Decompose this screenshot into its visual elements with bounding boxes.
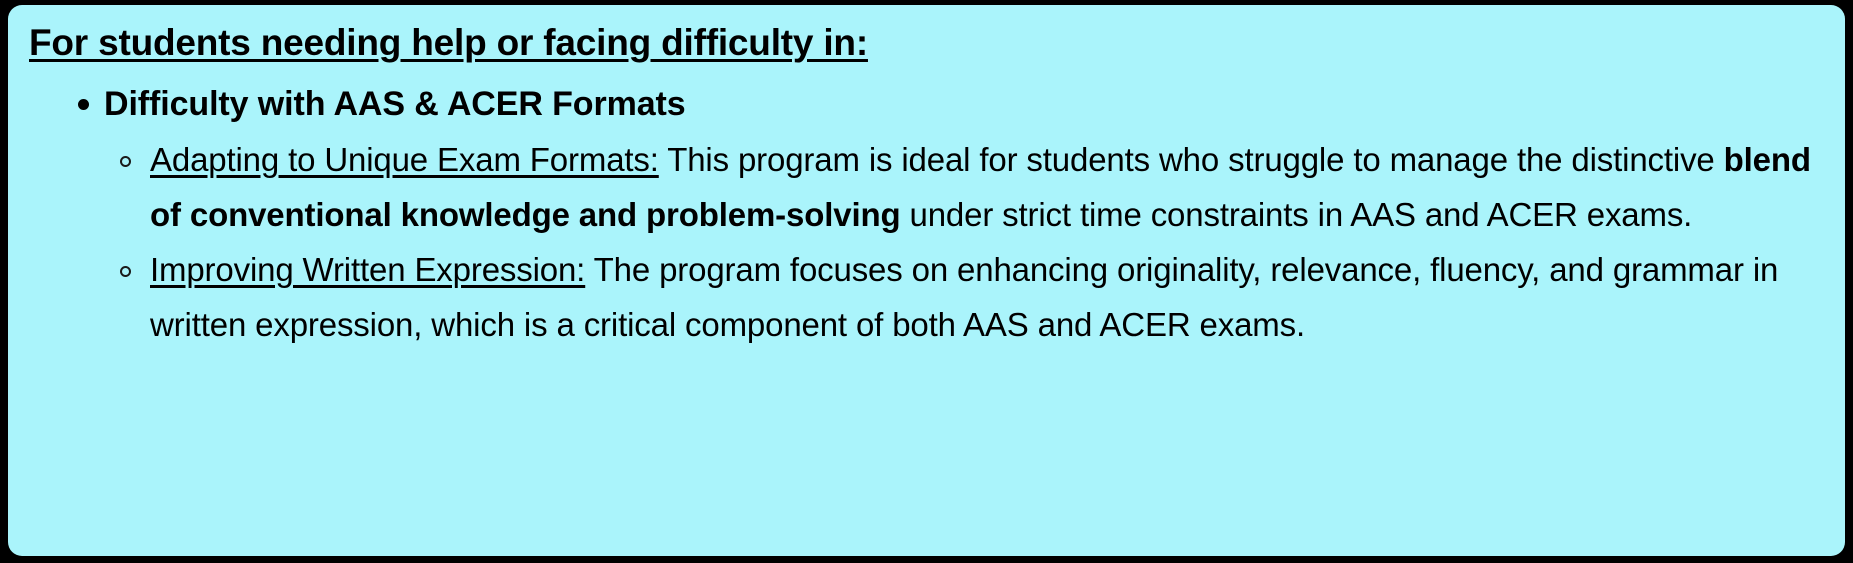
sub-bullet-written-expression: Improving Written Expression: The progra…	[150, 242, 1831, 352]
sub-bullet-body-before: This program is ideal for students who s…	[659, 141, 1724, 178]
bullet-label-formats: Difficulty with AAS & ACER Formats	[104, 77, 1831, 132]
bullet-list-level2: Adapting to Unique Exam Formats: This pr…	[104, 132, 1831, 352]
callout-heading: For students needing help or facing diff…	[29, 15, 1831, 71]
callout-content: For students needing help or facing diff…	[8, 5, 1845, 352]
disc-bullet-icon	[78, 99, 89, 110]
sub-bullet-body-after: under strict time constraints in AAS and…	[900, 196, 1692, 233]
list-item: Improving Written Expression: The progra…	[104, 242, 1831, 352]
info-callout-panel: For students needing help or facing diff…	[8, 5, 1845, 556]
list-item: Difficulty with AAS & ACER Formats Adapt…	[22, 77, 1831, 352]
list-item: Adapting to Unique Exam Formats: This pr…	[104, 132, 1831, 242]
sub-bullet-lead: Improving Written Expression:	[150, 251, 585, 288]
circle-bullet-icon	[120, 156, 131, 167]
circle-bullet-icon	[120, 266, 131, 277]
sub-bullet-adapting-formats: Adapting to Unique Exam Formats: This pr…	[150, 132, 1831, 242]
bullet-list-level1: Difficulty with AAS & ACER Formats Adapt…	[22, 77, 1831, 352]
sub-bullet-lead: Adapting to Unique Exam Formats:	[150, 141, 659, 178]
callout-heading-text: For students needing help or facing diff…	[29, 22, 868, 63]
